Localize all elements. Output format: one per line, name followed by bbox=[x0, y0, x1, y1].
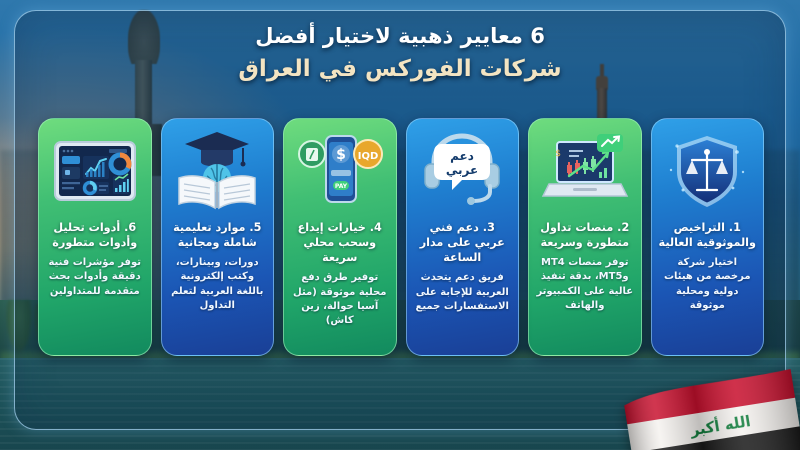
criteria-card-2[interactable]: $ bbox=[528, 118, 642, 356]
criteria-card-1[interactable]: 1. التراخيص والموثوقية العالية اختيار شر… bbox=[651, 118, 765, 356]
laptop-candlestick-chart-icon: $ bbox=[539, 128, 631, 214]
criteria-card-row: 1. التراخيص والموثوقية العالية اختيار شر… bbox=[38, 118, 764, 356]
card-body: فريق دعم يتحدث العربية للإجابة على الاست… bbox=[414, 271, 512, 314]
card-body: اختيار شركة مرخصة من هيئات دولية ومحلية … bbox=[659, 256, 757, 313]
card-title: 5. موارد تعليمية شاملة ومجانية bbox=[169, 220, 267, 250]
icon-label-line-2: عربي bbox=[446, 163, 478, 177]
card-body: توفر مؤشرات فنية دقيقة وأدوات بحث متقدمة… bbox=[46, 256, 144, 299]
card-title: 1. التراخيص والموثوقية العالية bbox=[659, 220, 757, 250]
icon-label-line-1: دعم bbox=[450, 149, 474, 163]
analytics-dashboard-icon bbox=[49, 128, 141, 214]
graduation-brain-book-icon bbox=[171, 128, 263, 214]
card-body: توفر منصات MT4 وMT5، بدقة تنفيذ عالية عل… bbox=[536, 256, 634, 313]
mobile-payment-icon: $ PAY IQD bbox=[294, 128, 386, 214]
criteria-card-4[interactable]: $ PAY IQD 4. خيارات إيداع وسحب محلي سريع… bbox=[283, 118, 397, 356]
criteria-card-6[interactable]: 6. أدوات تحليل وأدوات متطورة توفر مؤشرات… bbox=[38, 118, 152, 356]
criteria-card-3[interactable]: دعم عربي 3. دعم فني عربي على مدار الساعة… bbox=[406, 118, 520, 356]
dollar-badge: $ bbox=[336, 147, 346, 163]
page-title: 6 معايير ذهبية لاختيار أفضل شركات الفورك… bbox=[0, 22, 800, 86]
card-title: 6. أدوات تحليل وأدوات متطورة bbox=[46, 220, 144, 250]
criteria-card-5[interactable]: 5. موارد تعليمية شاملة ومجانية دورات، وب… bbox=[161, 118, 275, 356]
title-line-2: شركات الفوركس في العراق bbox=[0, 53, 800, 85]
currency-badge: IQD bbox=[357, 151, 378, 162]
infographic-canvas: 6 معايير ذهبية لاختيار أفضل شركات الفورك… bbox=[0, 0, 800, 450]
card-body: دورات، وبينارات، وكتب إلكترونية باللغة ا… bbox=[169, 256, 267, 313]
card-title: 3. دعم فني عربي على مدار الساعة bbox=[414, 220, 512, 265]
card-body: توفير طرق دفع محلية موثوقة (مثل آسيا حوا… bbox=[291, 271, 389, 328]
card-title: 4. خيارات إيداع وسحب محلي سريعة bbox=[291, 220, 389, 265]
headset-support-icon: دعم عربي bbox=[416, 128, 508, 214]
title-line-1: 6 معايير ذهبية لاختيار أفضل bbox=[0, 22, 800, 50]
pay-button-label: PAY bbox=[335, 183, 348, 190]
svg-text:$: $ bbox=[555, 149, 561, 159]
shield-scales-icon bbox=[661, 128, 753, 214]
card-title: 2. منصات تداول متطورة وسريعة bbox=[536, 220, 634, 250]
